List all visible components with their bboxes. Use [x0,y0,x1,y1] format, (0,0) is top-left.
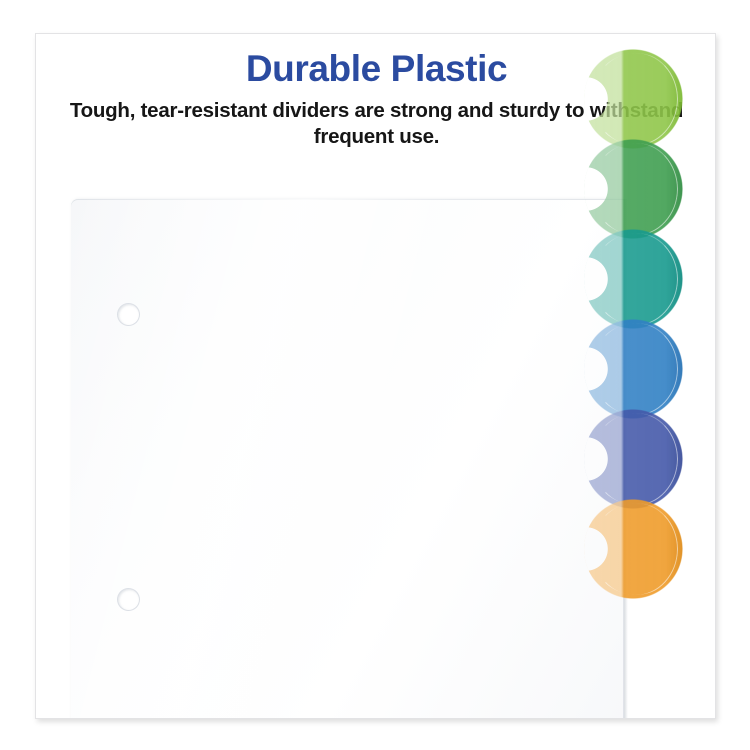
sheet-edge-shadow [624,199,628,719]
page-subtitle: Tough, tear-resistant dividers are stron… [36,98,716,150]
page-title: Durable Plastic [36,50,716,89]
hole-punch-bottom [118,589,139,610]
headline-block: Durable Plastic Tough, tear-resistant di… [36,50,716,150]
product-image-card: Durable Plastic Tough, tear-resistant di… [35,33,716,719]
hole-punch-top [118,304,139,325]
divider-sheet [71,199,624,719]
sheet-sheen [71,199,624,719]
